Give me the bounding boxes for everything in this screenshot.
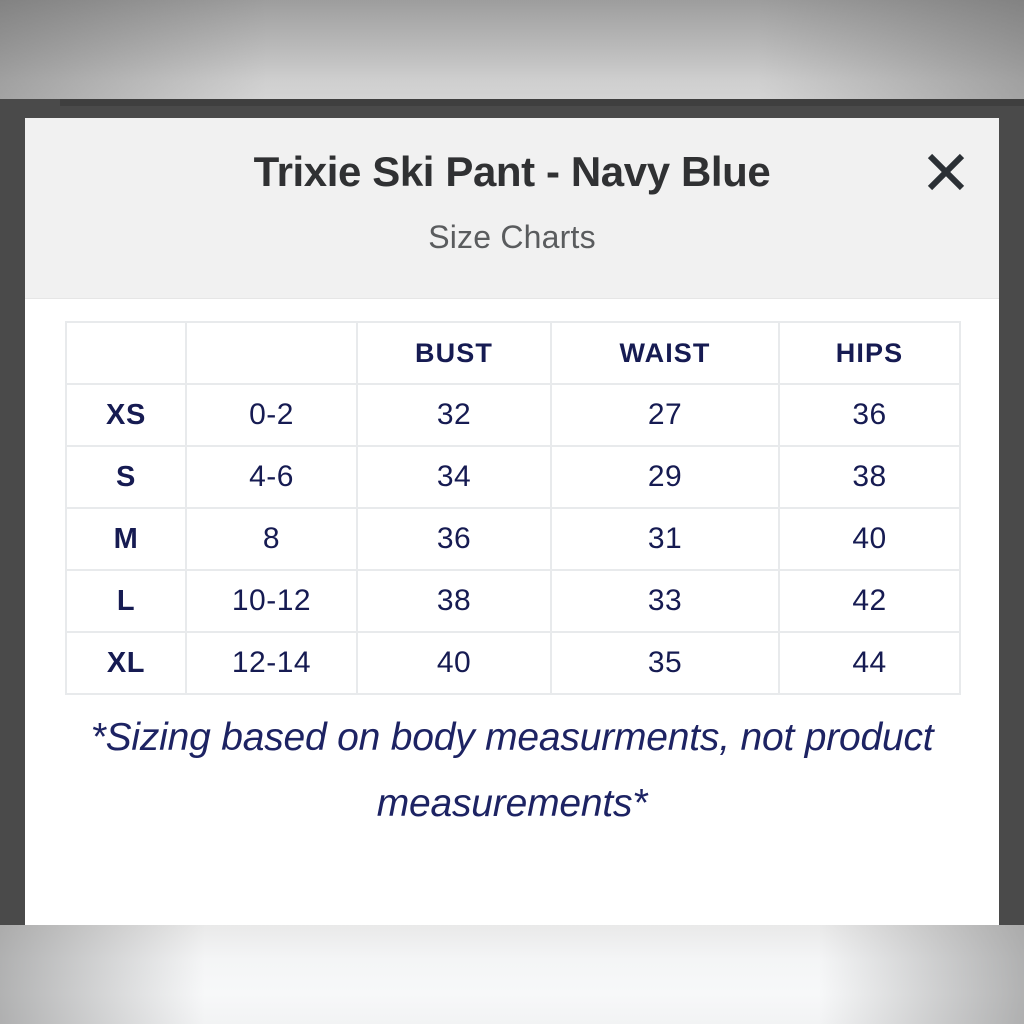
screen: Trixie Ski Pant - Navy Blue Size Charts (0, 0, 1024, 1024)
cell-hips: 40 (779, 508, 960, 570)
cell-waist: 33 (551, 570, 779, 632)
page-backdrop-top-vignette (0, 0, 1024, 99)
page-title: Trixie Ski Pant - Navy Blue (25, 148, 999, 196)
cell-bust: 38 (357, 570, 551, 632)
table-header-row: BUST WAIST HIPS (66, 322, 960, 384)
cell-numeric: 0-2 (186, 384, 357, 446)
cell-size: XS (66, 384, 186, 446)
close-x-icon (919, 145, 973, 199)
cell-waist: 27 (551, 384, 779, 446)
cell-bust: 32 (357, 384, 551, 446)
table-row: L 10-12 38 33 42 (66, 570, 960, 632)
column-header-bust: BUST (357, 322, 551, 384)
column-header-waist: WAIST (551, 322, 779, 384)
modal-body: BUST WAIST HIPS XS 0-2 32 27 36 (25, 299, 999, 925)
table-row: S 4-6 34 29 38 (66, 446, 960, 508)
cell-size: M (66, 508, 186, 570)
cell-numeric: 10-12 (186, 570, 357, 632)
table-row: M 8 36 31 40 (66, 508, 960, 570)
modal-subtitle: Size Charts (25, 219, 999, 256)
column-header-size (66, 322, 186, 384)
close-button[interactable] (919, 145, 973, 199)
cell-hips: 36 (779, 384, 960, 446)
cell-size: L (66, 570, 186, 632)
column-header-numeric (186, 322, 357, 384)
column-header-hips: HIPS (779, 322, 960, 384)
cell-bust: 40 (357, 632, 551, 694)
table-row: XL 12-14 40 35 44 (66, 632, 960, 694)
size-chart-table: BUST WAIST HIPS XS 0-2 32 27 36 (65, 321, 961, 695)
overlay-seam (60, 99, 1024, 106)
cell-numeric: 4-6 (186, 446, 357, 508)
cell-bust: 36 (357, 508, 551, 570)
sizing-disclaimer-line1: *Sizing based on body measurments, not (91, 716, 794, 759)
cell-bust: 34 (357, 446, 551, 508)
size-table-container: BUST WAIST HIPS XS 0-2 32 27 36 (65, 321, 959, 695)
cell-hips: 44 (779, 632, 960, 694)
cell-numeric: 12-14 (186, 632, 357, 694)
size-chart-modal: Trixie Ski Pant - Navy Blue Size Charts (25, 118, 999, 925)
cell-hips: 42 (779, 570, 960, 632)
page-backdrop-bottom-vignette (0, 925, 1024, 1024)
cell-hips: 38 (779, 446, 960, 508)
cell-numeric: 8 (186, 508, 357, 570)
cell-waist: 29 (551, 446, 779, 508)
table-row: XS 0-2 32 27 36 (66, 384, 960, 446)
cell-waist: 35 (551, 632, 779, 694)
modal-header: Trixie Ski Pant - Navy Blue Size Charts (25, 118, 999, 299)
cell-waist: 31 (551, 508, 779, 570)
cell-size: S (66, 446, 186, 508)
cell-size: XL (66, 632, 186, 694)
sizing-disclaimer: *Sizing based on body measurments, not p… (77, 705, 947, 837)
